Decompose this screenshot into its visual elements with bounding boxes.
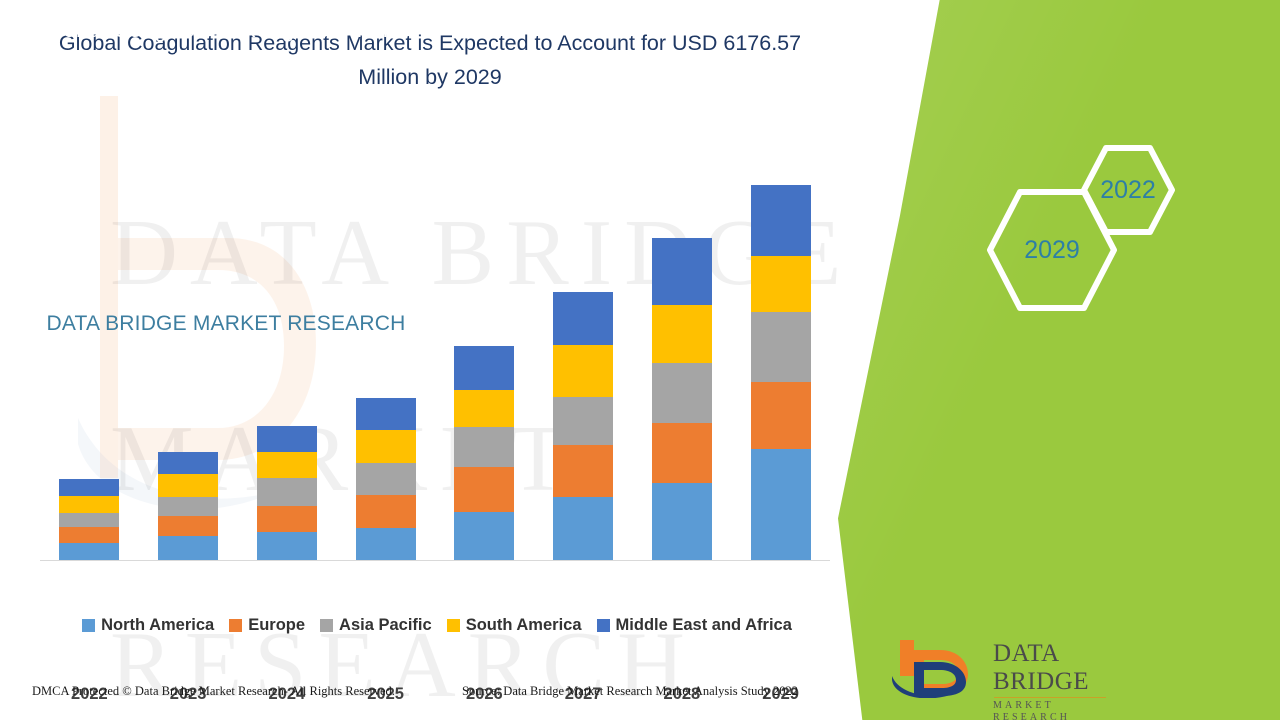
bar-group <box>40 120 830 560</box>
bar-segment <box>751 312 811 382</box>
bar-segment <box>257 532 317 560</box>
bar-segment <box>59 543 119 560</box>
bar-column-2028 <box>633 120 732 560</box>
bar-segment <box>751 382 811 449</box>
panel-brand-text: DATA BRIDGE MARKET RESEARCH <box>30 308 422 340</box>
x-axis-line <box>40 560 830 561</box>
bar-segment <box>553 497 613 560</box>
footer-source: Source: Data Bridge Market Research Mark… <box>462 684 798 699</box>
stacked-bar <box>652 238 712 560</box>
bar-segment <box>356 528 416 560</box>
stacked-bar <box>454 346 514 560</box>
bar-segment <box>454 512 514 560</box>
stacked-bar <box>257 426 317 560</box>
logo-text-block: DATA BRIDGE MARKET RESEARCH <box>993 640 1106 720</box>
chart-legend: North AmericaEuropeAsia PacificSouth Ame… <box>42 616 832 635</box>
legend-label: Europe <box>248 616 305 635</box>
hexagon-label-2022: 2022 <box>1082 144 1174 236</box>
bar-segment <box>454 427 514 467</box>
bar-segment <box>158 474 218 497</box>
bar-segment <box>257 452 317 478</box>
legend-item[interactable]: South America <box>447 616 582 635</box>
bar-segment <box>356 398 416 430</box>
chart-panel: DATA BRIDGE MARKET RESEARCH Global Coagu… <box>0 0 860 720</box>
bar-column-2026 <box>435 120 534 560</box>
bar-segment <box>652 483 712 560</box>
bar-column-2027 <box>534 120 633 560</box>
bar-segment <box>257 426 317 452</box>
bar-segment <box>652 305 712 363</box>
bar-column-2025 <box>336 120 435 560</box>
bar-segment <box>158 497 218 516</box>
logo-mark-icon <box>890 636 990 698</box>
bar-segment <box>751 449 811 560</box>
bar-segment <box>257 478 317 506</box>
infographic-canvas: DATA BRIDGE MARKET RESEARCH Global Coagu… <box>0 0 1280 720</box>
bar-segment <box>59 496 119 513</box>
bar-segment <box>652 363 712 423</box>
legend-item[interactable]: Europe <box>229 616 305 635</box>
bar-segment <box>59 527 119 543</box>
hexagon-badge-2022: 2022 <box>1082 144 1174 236</box>
bar-segment <box>158 452 218 474</box>
bar-segment <box>652 238 712 305</box>
legend-label: South America <box>466 616 582 635</box>
plot-area: 20222023202420252026202720282029 <box>40 120 830 561</box>
bar-segment <box>553 397 613 445</box>
bar-column-2029 <box>731 120 830 560</box>
bar-segment <box>356 430 416 463</box>
brand-panel <box>838 0 1280 720</box>
bar-segment <box>158 536 218 560</box>
legend-label: Middle East and Africa <box>616 616 792 635</box>
legend-item[interactable]: Asia Pacific <box>320 616 432 635</box>
bar-column-2024 <box>238 120 337 560</box>
legend-swatch-icon <box>320 619 333 632</box>
bar-segment <box>751 185 811 256</box>
bar-column-2022 <box>40 120 139 560</box>
stacked-bar <box>751 185 811 560</box>
bar-segment <box>751 256 811 312</box>
bar-segment <box>158 516 218 536</box>
logo-name: DATA BRIDGE <box>993 640 1106 696</box>
bar-segment <box>553 345 613 397</box>
legend-item[interactable]: Middle East and Africa <box>597 616 792 635</box>
legend-label: Asia Pacific <box>339 616 432 635</box>
bar-segment <box>356 495 416 528</box>
bar-segment <box>59 513 119 527</box>
bar-segment <box>454 467 514 512</box>
bar-segment <box>257 506 317 532</box>
logo-divider <box>994 697 1106 698</box>
logo-subtitle: MARKET RESEARCH <box>993 700 1106 720</box>
bar-segment <box>454 390 514 427</box>
bar-segment <box>652 423 712 483</box>
legend-swatch-icon <box>447 619 460 632</box>
stacked-bar <box>59 479 119 560</box>
bar-segment <box>553 445 613 497</box>
bar-segment <box>59 479 119 496</box>
panel-sheen <box>838 0 1280 720</box>
bar-segment <box>454 346 514 390</box>
legend-label: North America <box>101 616 214 635</box>
bar-column-2023 <box>139 120 238 560</box>
panel-title: Global Coagulation Reagents Market, By R… <box>40 14 420 78</box>
bar-segment <box>553 292 613 345</box>
legend-item[interactable]: North America <box>82 616 214 635</box>
stacked-bar <box>158 452 218 560</box>
footer-copyright: DMCA Protected © Data Bridge Market Rese… <box>32 684 395 699</box>
stacked-bar <box>553 292 613 560</box>
company-logo: DATA BRIDGE MARKET RESEARCH <box>890 636 1105 698</box>
legend-swatch-icon <box>229 619 242 632</box>
legend-swatch-icon <box>597 619 610 632</box>
bar-segment <box>356 463 416 495</box>
legend-swatch-icon <box>82 619 95 632</box>
stacked-bar <box>356 398 416 560</box>
